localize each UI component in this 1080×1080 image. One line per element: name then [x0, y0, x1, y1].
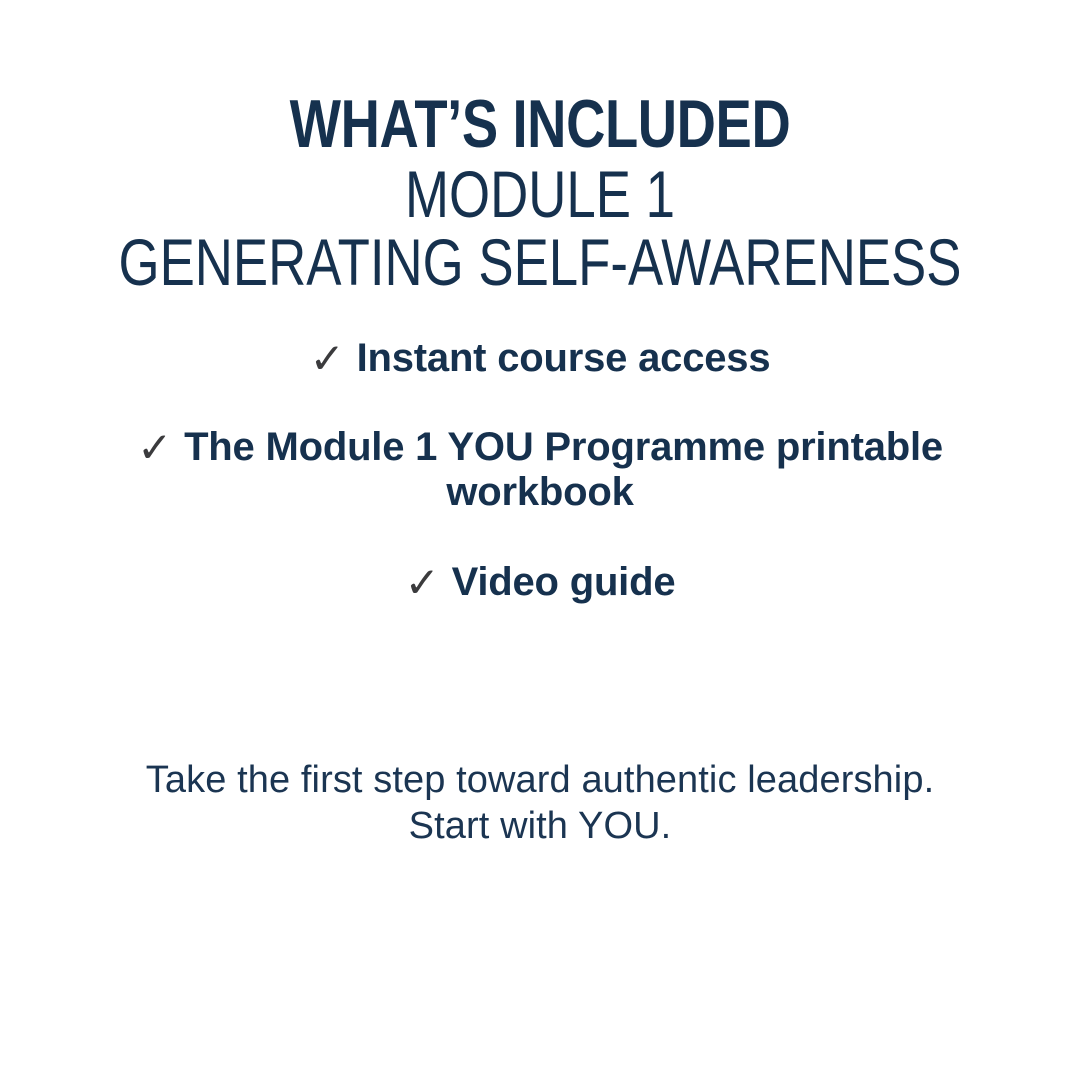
check-icon: ✓ [137, 427, 172, 469]
list-item: ✓Video guide [90, 560, 990, 605]
closing-statement: Take the first step toward authentic lea… [90, 757, 990, 850]
list-item: ✓Instant course access [90, 336, 990, 381]
feature-label: Video guide [452, 560, 676, 604]
list-item: ✓The Module 1 YOU Programme printable wo… [90, 425, 990, 515]
check-icon: ✓ [310, 338, 345, 380]
promo-slide: WHAT’S INCLUDED MODULE 1 GENERATING SELF… [0, 0, 1080, 1080]
feature-label: Instant course access [357, 336, 771, 380]
included-features-list: ✓Instant course access ✓The Module 1 YOU… [90, 336, 990, 605]
feature-label: The Module 1 YOU Programme printable wor… [184, 425, 943, 514]
heading-line-whats-included: WHAT’S INCLUDED [108, 92, 972, 157]
page-title: WHAT’S INCLUDED MODULE 1 GENERATING SELF… [0, 92, 1080, 294]
closing-statement-line-1: Take the first step toward authentic lea… [90, 757, 990, 803]
heading-line-module: MODULE 1 [108, 163, 972, 226]
heading-line-subject: GENERATING SELF-AWARENESS [108, 231, 972, 294]
check-icon: ✓ [405, 562, 440, 604]
closing-statement-line-2: Start with YOU. [90, 803, 990, 849]
